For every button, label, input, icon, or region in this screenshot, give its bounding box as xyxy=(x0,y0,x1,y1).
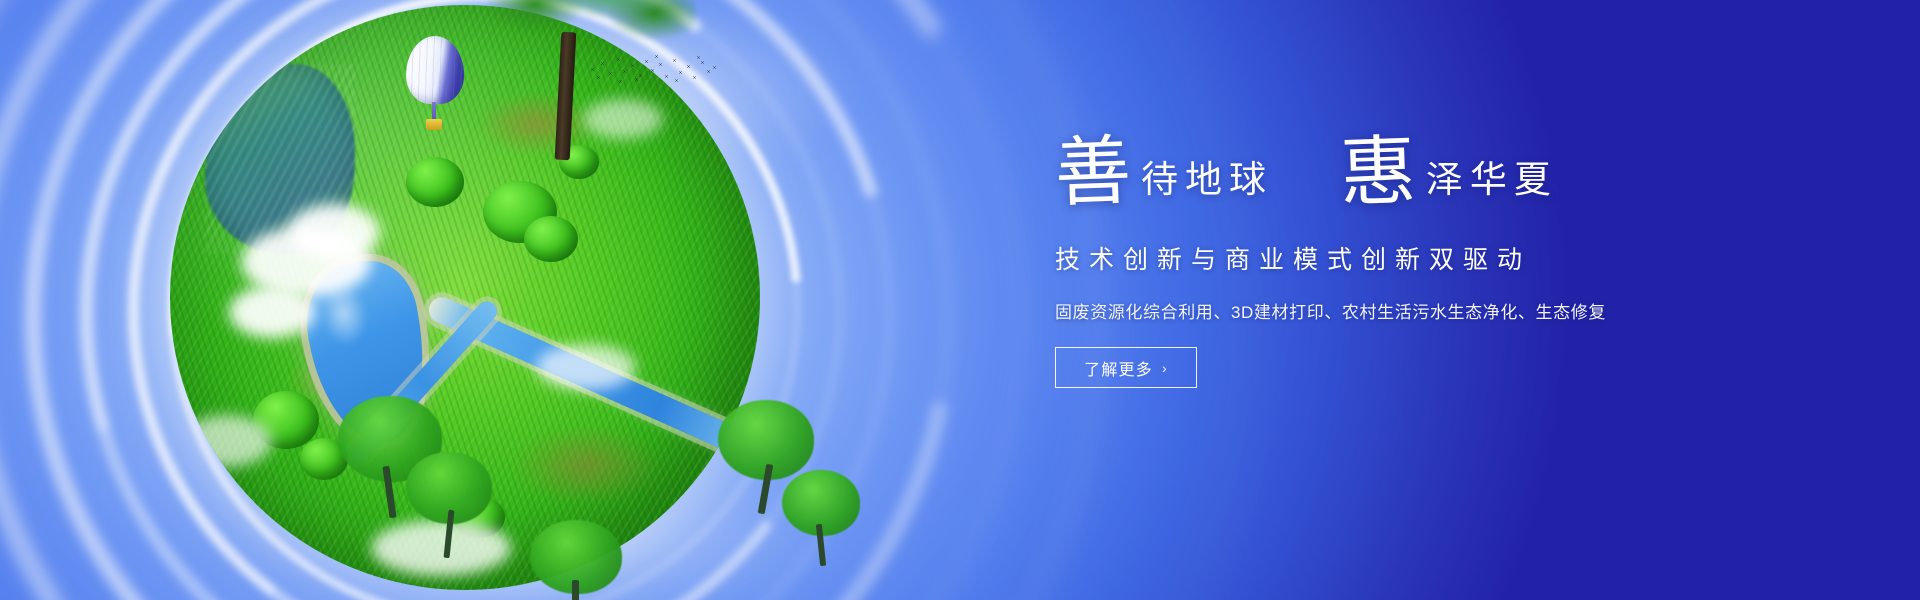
surface-cloud xyxy=(182,415,272,467)
bird-icon xyxy=(664,75,669,78)
bird-icon xyxy=(700,61,705,64)
hot-air-balloon-icon xyxy=(406,36,466,134)
bird-icon xyxy=(634,78,639,81)
headline-lead-char-1: 善 xyxy=(1054,133,1133,212)
bird-icon xyxy=(622,70,627,73)
headline-rest-1: 待地球 xyxy=(1141,161,1273,198)
bird-icon xyxy=(600,62,605,65)
bird-icon xyxy=(706,70,711,73)
headline-rest-2: 泽华夏 xyxy=(1426,161,1558,198)
bird-icon xyxy=(630,64,635,67)
bird-icon xyxy=(678,71,683,74)
surface-cloud xyxy=(288,204,380,260)
page-title: 善 待地球 惠 泽华夏 xyxy=(1055,128,1815,220)
balloon-rope xyxy=(432,102,436,120)
bird-icon xyxy=(672,59,677,62)
bird-icon xyxy=(596,76,601,79)
surface-cloud xyxy=(229,286,315,338)
hero-banner: 善 待地球 惠 泽华夏 技术创新与商业模式创新双驱动 固废资源化综合利用、3D建… xyxy=(0,0,1920,600)
bird-icon xyxy=(658,63,663,66)
headline-lead-char-2: 惠 xyxy=(1339,133,1418,212)
chevron-right-icon: › xyxy=(1162,361,1168,375)
learn-more-button[interactable]: 了解更多 › xyxy=(1055,347,1197,388)
surface-cloud xyxy=(371,520,511,576)
headline-phrase-1: 善 待地球 xyxy=(1055,128,1273,204)
bird-icon xyxy=(650,69,655,72)
balloon-basket xyxy=(426,119,442,130)
bird-icon xyxy=(608,72,613,75)
bird-icon xyxy=(686,65,691,68)
bird-icon xyxy=(618,80,623,83)
hero-description: 固废资源化综合利用、3D建材打印、农村生活污水生态净化、生态修复 xyxy=(1055,298,1815,323)
bird-icon xyxy=(712,66,717,69)
bush xyxy=(406,157,464,207)
bush xyxy=(524,216,578,262)
learn-more-label: 了解更多 xyxy=(1084,356,1153,380)
tree-trunk xyxy=(572,580,579,600)
surface-cloud xyxy=(536,344,636,390)
bird-flock xyxy=(588,52,718,92)
bird-icon xyxy=(696,56,701,59)
bird-icon xyxy=(644,60,649,63)
soil-patch-b xyxy=(512,426,662,504)
bird-icon xyxy=(590,68,595,71)
bird-icon xyxy=(616,58,621,61)
bird-icon xyxy=(638,74,643,77)
bird-icon xyxy=(674,79,679,82)
hero-subtitle: 技术创新与商业模式创新双驱动 xyxy=(1055,240,1815,276)
headline-phrase-2: 惠 泽华夏 xyxy=(1340,128,1558,204)
balloon-envelope xyxy=(406,36,464,104)
bird-icon xyxy=(654,55,659,58)
bird-icon xyxy=(692,76,697,79)
hero-content: 善 待地球 惠 泽华夏 技术创新与商业模式创新双驱动 固废资源化综合利用、3D建… xyxy=(1055,128,1815,388)
balloon-stripes xyxy=(406,36,464,104)
